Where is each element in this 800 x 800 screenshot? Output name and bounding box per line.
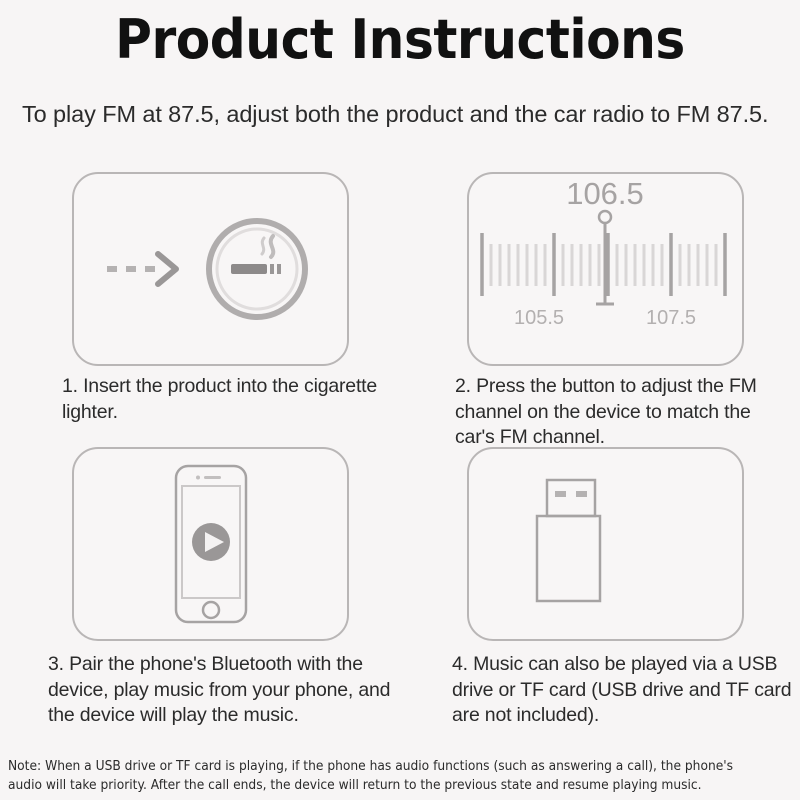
step-4-caption: 4. Music can also be played via a USB dr… [452,652,800,729]
usb-drive-icon [469,449,742,639]
step-1-caption: 1. Insert the product into the cigarette… [62,374,392,425]
intro-text: To play FM at 87.5, adjust both the prod… [22,98,778,130]
cigarette-lighter-socket-icon [74,174,347,364]
tuner-current-frequency: 106.5 [566,176,644,211]
footer-note: Note: When a USB drive or TF card is pla… [8,757,741,795]
step-2-caption: 2. Press the button to adjust the FM cha… [455,374,795,451]
step-1-illustration-panel [72,172,349,366]
page-title: Product Instructions [28,8,772,71]
fm-tuner-dial-icon: 106.5 105.5 107.5 [469,174,742,364]
step-2-illustration-panel: 106.5 105.5 107.5 [467,172,744,366]
step-3-illustration-panel [72,447,349,641]
smartphone-play-icon [74,449,347,639]
step-4-illustration-panel [467,447,744,641]
step-3-caption: 3. Pair the phone's Bluetooth with the d… [48,652,408,729]
tuner-right-label: 107.5 [646,307,696,329]
tuner-left-label: 105.5 [514,307,564,329]
